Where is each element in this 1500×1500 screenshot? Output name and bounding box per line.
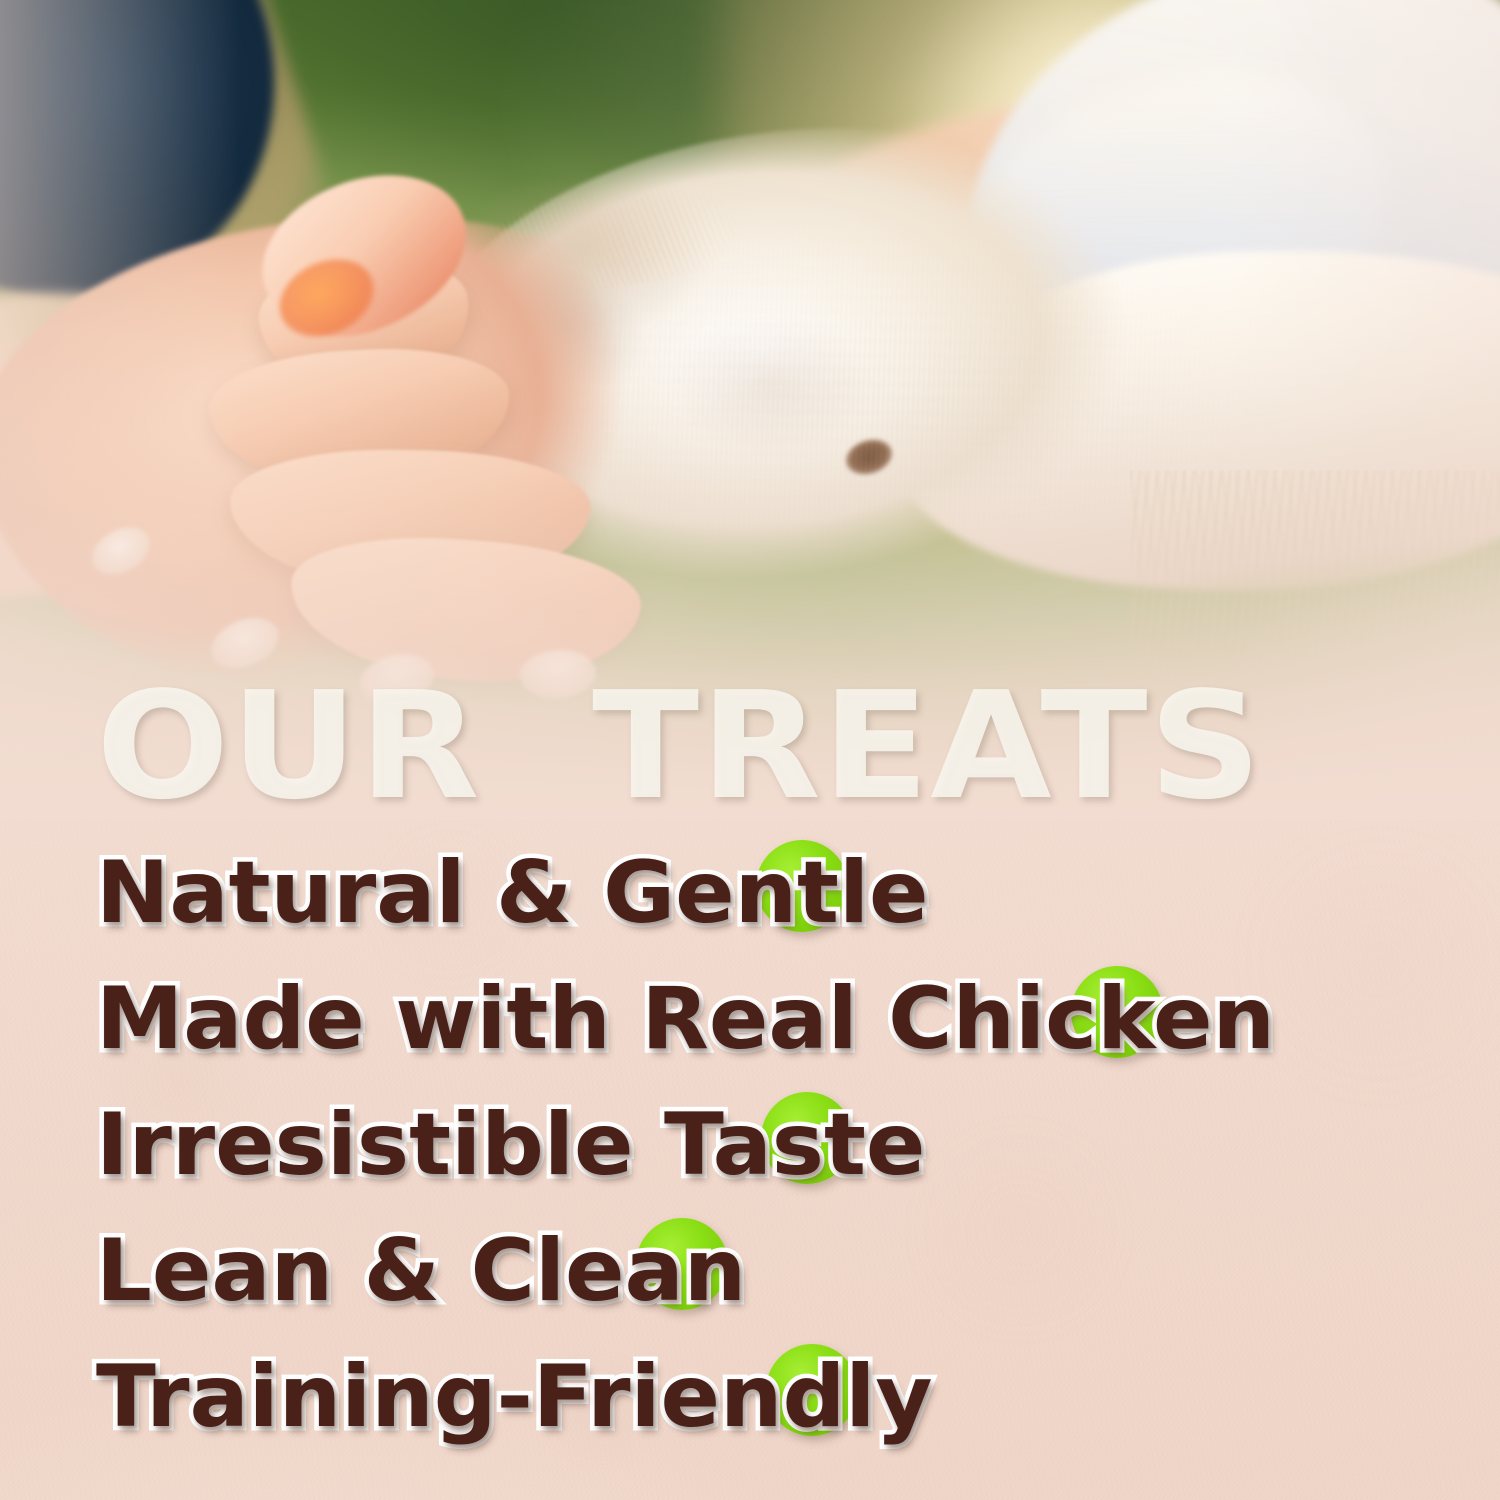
human-hand	[0, 200, 860, 720]
dog-fur-wisps	[1130, 470, 1500, 820]
hero-photo	[0, 0, 1500, 820]
product-feature-poster: OUR TREATS Natural & Gentle Made with Re…	[0, 0, 1500, 1500]
